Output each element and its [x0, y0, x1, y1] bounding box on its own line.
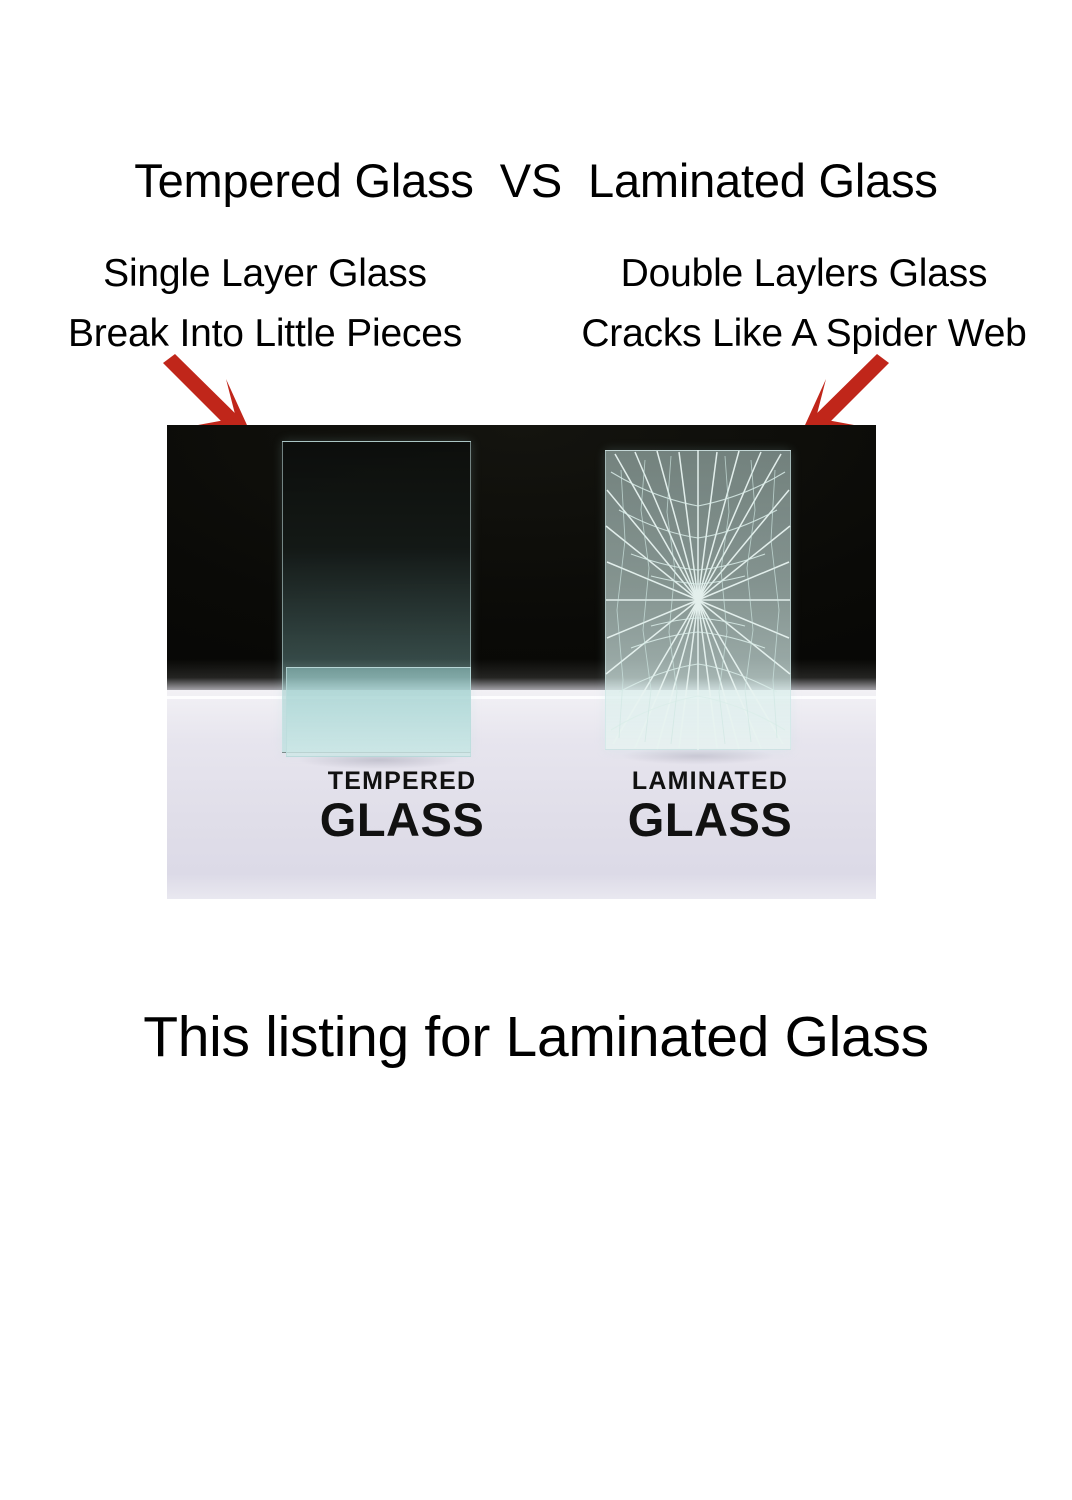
photo-caption-laminated-big: GLASS — [595, 795, 825, 845]
subtitle-row: Single Layer Glass Break Into Little Pie… — [0, 244, 1072, 364]
laminated-description: Double Laylers Glass Cracks Like A Spide… — [536, 244, 1072, 364]
laminated-description-line-1: Double Laylers Glass — [536, 244, 1072, 304]
comparison-photo: TEMPERED GLASS LAMINATED GLASS — [167, 425, 876, 899]
title-tempered: Tempered Glass — [134, 154, 473, 207]
photo-caption-tempered-small: TEMPERED — [287, 767, 517, 795]
poster-canvas: Tempered GlassVSLaminated Glass Single L… — [0, 0, 1072, 1500]
photo-caption-laminated: LAMINATED GLASS — [595, 767, 825, 845]
tempered-glass-panel — [282, 441, 471, 753]
photo-caption-laminated-small: LAMINATED — [595, 767, 825, 795]
laminated-spider-web-cracks — [605, 450, 791, 750]
tempered-description-line-1: Single Layer Glass — [0, 244, 530, 304]
title-laminated: Laminated Glass — [588, 154, 938, 207]
laminated-glass-panel — [605, 450, 791, 750]
tempered-description: Single Layer Glass Break Into Little Pie… — [0, 244, 530, 364]
listing-note: This listing for Laminated Glass — [0, 1002, 1072, 1072]
page-title: Tempered GlassVSLaminated Glass — [0, 152, 1072, 210]
title-vs: VS — [500, 154, 562, 207]
photo-caption-tempered: TEMPERED GLASS — [287, 767, 517, 845]
tempered-crumb-pattern — [276, 437, 481, 729]
photo-caption-tempered-big: GLASS — [287, 795, 517, 845]
